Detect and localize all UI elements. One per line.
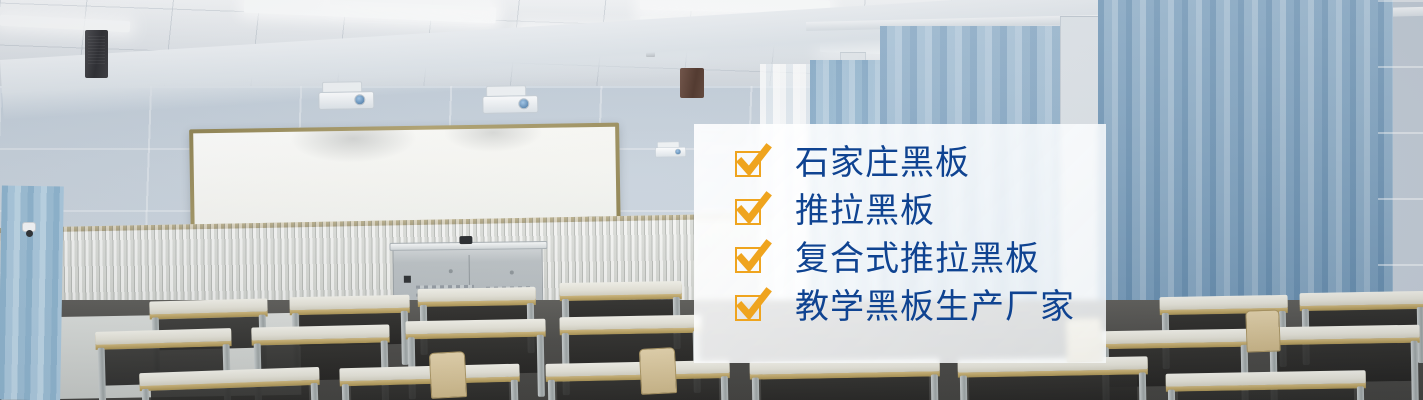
wall-speaker-black-icon — [85, 30, 108, 78]
feature-list-item[interactable]: 石家庄黑板 — [735, 146, 970, 180]
feature-list-item-label: 推拉黑板 — [795, 194, 935, 228]
desk-leg — [721, 376, 729, 400]
desk-leg — [1139, 372, 1147, 400]
desk-leg — [342, 384, 350, 400]
student-chair — [639, 347, 677, 395]
checkbox-checked-icon[interactable] — [735, 244, 765, 274]
desk-leg — [752, 378, 760, 400]
student-desk — [750, 358, 941, 400]
student-desk — [545, 360, 730, 400]
podium-knob — [510, 270, 514, 274]
checkbox-checked-icon[interactable] — [735, 196, 765, 226]
desk-leg — [311, 383, 320, 400]
feature-list-item[interactable]: 推拉黑板 — [735, 194, 935, 228]
projector-body — [318, 91, 374, 110]
desk-leg — [537, 335, 545, 397]
feature-list-item-label: 石家庄黑板 — [795, 146, 970, 180]
desk-storage — [557, 378, 719, 400]
desk-leg — [931, 374, 939, 400]
right-wall-tiles — [1378, 0, 1423, 330]
feature-list: 石家庄黑板 推拉黑板 复合式推拉黑板 — [694, 124, 1106, 363]
student-chair — [429, 351, 467, 399]
desk-storage — [761, 377, 929, 400]
classroom-hero-banner: 石家庄黑板 推拉黑板 复合式推拉黑板 — [0, 0, 1423, 400]
desk-leg — [548, 380, 556, 400]
podium-knob — [449, 269, 453, 273]
desk-storage — [969, 375, 1137, 400]
desk-leg — [1357, 386, 1365, 400]
desk-leg — [960, 376, 968, 400]
checkbox-checked-icon[interactable] — [735, 292, 765, 322]
student-desk — [139, 367, 321, 400]
blue-curtain — [1098, 0, 1393, 326]
projector-body — [482, 95, 538, 114]
feature-list-overlay: 石家庄黑板 推拉黑板 复合式推拉黑板 — [694, 124, 1106, 363]
desk-leg — [511, 380, 519, 400]
blue-curtain — [0, 185, 64, 400]
checkbox-checked-icon[interactable] — [735, 148, 765, 178]
podium-camera-icon — [459, 236, 472, 244]
student-chair — [1245, 309, 1280, 352]
desk-leg — [1411, 341, 1419, 400]
podium-socket — [404, 276, 411, 283]
desk-leg — [1168, 390, 1176, 400]
projector-body — [655, 147, 686, 157]
wall-speaker-brown-icon — [680, 68, 704, 98]
student-desk — [1166, 370, 1367, 400]
feature-list-item-label: 教学黑板生产厂家 — [795, 290, 1075, 324]
feature-list-item[interactable]: 教学黑板生产厂家 — [735, 290, 1075, 324]
feature-list-item[interactable]: 复合式推拉黑板 — [735, 242, 1040, 276]
desk-storage — [1178, 388, 1354, 400]
security-camera-icon — [22, 222, 36, 232]
projector-lens-icon — [675, 149, 681, 155]
feature-list-item-label: 复合式推拉黑板 — [795, 242, 1040, 276]
